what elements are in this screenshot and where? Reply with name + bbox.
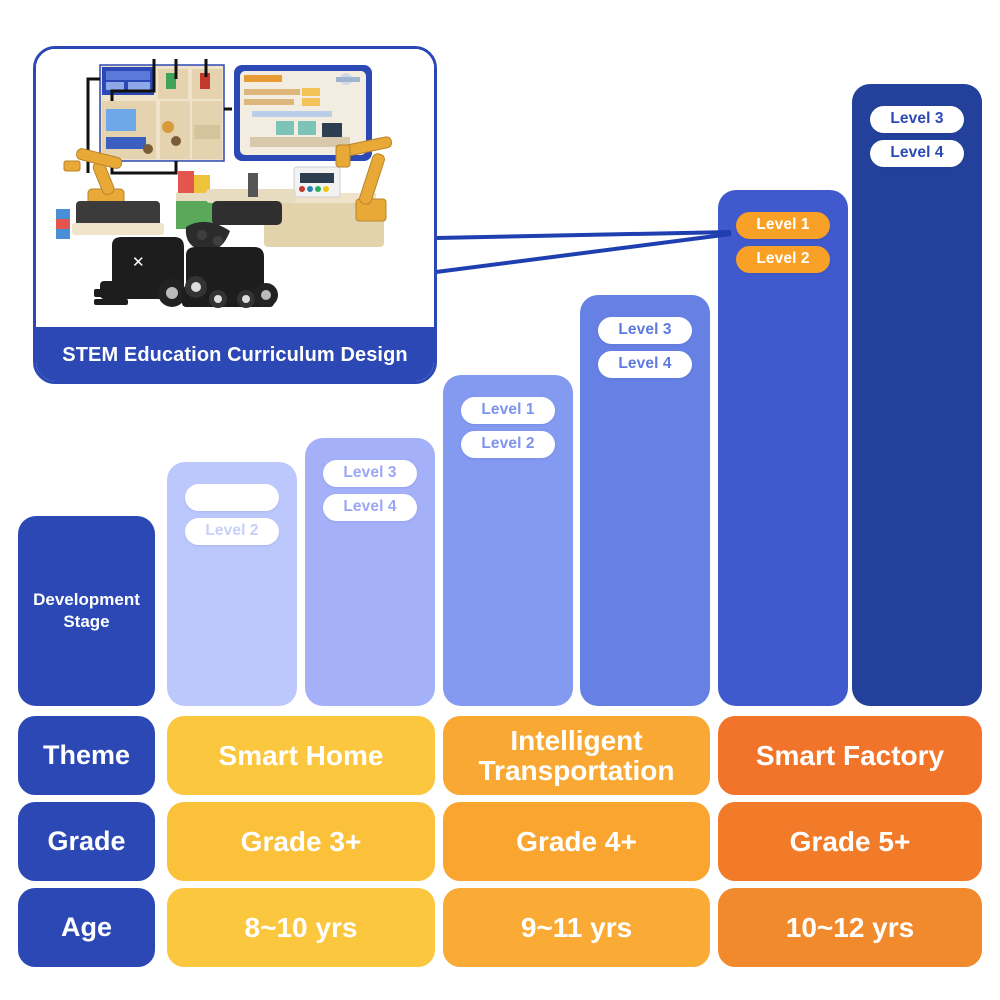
- callout-caption: STEM Education Curriculum Design: [34, 327, 436, 383]
- table-cell[interactable]: Grade 3+: [167, 802, 435, 881]
- level-pill[interactable]: Level 3: [598, 317, 691, 344]
- bar-smart-factory-level-1-2[interactable]: Level 1Level 2: [718, 190, 848, 706]
- table-cell[interactable]: Smart Factory: [718, 716, 982, 795]
- bar-intelligent-transportation-level-1-2[interactable]: Level 1Level 2: [443, 375, 573, 706]
- table-row: GradeGrade 3+Grade 4+Grade 5+: [0, 802, 1000, 881]
- bar-smart-factory-level-3-4[interactable]: Level 3Level 4: [852, 84, 982, 706]
- level-pill-group: Level 1Level 2: [461, 397, 554, 458]
- level-pill[interactable]: Level 4: [598, 351, 691, 378]
- level-pill[interactable]: Level 2: [185, 518, 278, 545]
- bar-label: Development Stage: [25, 589, 148, 634]
- bar-development-stage[interactable]: Development Stage: [18, 516, 155, 706]
- level-pill-group: Level 1Level 2: [736, 212, 829, 273]
- table-row: Age8~10 yrs9~11 yrs10~12 yrs: [0, 888, 1000, 967]
- row-header-age-row: Age: [18, 888, 155, 967]
- row-header-grade-row: Grade: [18, 802, 155, 881]
- level-pill-group: Level 3Level 4: [598, 317, 691, 378]
- level-pill-group: Level 3Level 4: [323, 460, 416, 521]
- level-pill[interactable]: Level 1: [185, 484, 278, 511]
- bar-smart-home-level-1-2[interactable]: Level 1Level 2: [167, 462, 297, 706]
- level-pill[interactable]: Level 2: [461, 431, 554, 458]
- table-cell[interactable]: 9~11 yrs: [443, 888, 710, 967]
- svg-text:✕: ✕: [132, 253, 145, 271]
- table-cell[interactable]: Grade 5+: [718, 802, 982, 881]
- table-cell[interactable]: Intelligent Transportation: [443, 716, 710, 795]
- level-pill-group: Level 3Level 4: [870, 106, 963, 167]
- level-pill[interactable]: Level 4: [323, 494, 416, 521]
- table-cell[interactable]: 10~12 yrs: [718, 888, 982, 967]
- stem-kit-photo: ✕: [36, 49, 434, 334]
- row-header-theme-row: Theme: [18, 716, 155, 795]
- level-pill[interactable]: Level 1: [736, 212, 829, 239]
- table-row: ThemeSmart HomeIntelligent Transportatio…: [0, 716, 1000, 795]
- table-cell[interactable]: Smart Home: [167, 716, 435, 795]
- level-pill[interactable]: Level 2: [736, 246, 829, 273]
- bar-intelligent-transportation-level-3-4[interactable]: Level 3Level 4: [580, 295, 710, 706]
- level-pill[interactable]: Level 3: [870, 106, 963, 133]
- level-pill[interactable]: Level 1: [461, 397, 554, 424]
- curriculum-table: ThemeSmart HomeIntelligent Transportatio…: [0, 716, 1000, 974]
- level-pill[interactable]: Level 3: [323, 460, 416, 487]
- level-pill-group: Level 1Level 2: [185, 484, 278, 545]
- callout-box: ✕ STEM Education Curriculum Design: [33, 46, 437, 384]
- table-cell[interactable]: Grade 4+: [443, 802, 710, 881]
- level-pill[interactable]: Level 4: [870, 140, 963, 167]
- bar-smart-home-level-3-4[interactable]: Level 3Level 4: [305, 438, 435, 706]
- table-cell[interactable]: 8~10 yrs: [167, 888, 435, 967]
